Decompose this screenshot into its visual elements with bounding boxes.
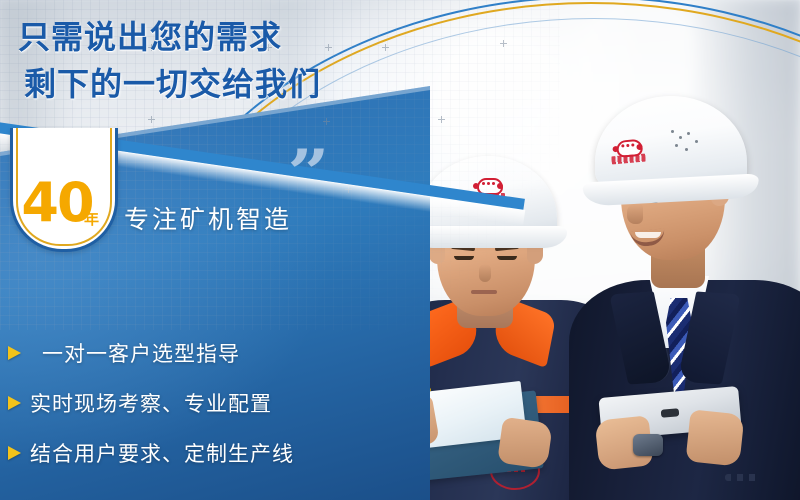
arrow-right-icon [8,446,21,460]
grid-plus-marker [148,116,155,123]
arrow-right-icon [8,346,21,360]
headline-line-1: 只需说出您的需求 [18,19,282,55]
list-item-label: 结合用户要求、定制生产线 [30,438,294,468]
grid-plus-marker [438,116,445,123]
quotation-mark-icon: ” [287,142,329,206]
anniversary-badge: 40 年 [10,128,118,252]
list-item-label: 实时现场考察、专业配置 [30,388,272,418]
badge-unit: 年 [84,208,99,229]
slogan-text: 专注矿机智造 [124,205,292,235]
promo-banner: ” 只需说出您的需求 剩下的一切交给我们 40 年 专注矿机智造 一对一客户选型… [0,0,800,500]
grid-plus-marker [500,40,507,47]
list-item: 结合用户要求、定制生产线 [8,428,338,478]
list-item: 一对一客户选型指导 [8,328,338,378]
feature-list: 一对一客户选型指导 实时现场考察、专业配置 结合用户要求、定制生产线 [8,328,338,478]
headline-line-2: 剩下的一切交给我们 [18,61,321,108]
list-item-label: 一对一客户选型指导 [30,338,240,368]
grid-plus-marker [325,44,332,51]
arrow-right-icon [8,396,21,410]
grid-plus-marker [382,44,389,51]
headline: 只需说出您的需求 剩下的一切交给我们 [18,14,321,108]
grid-plus-marker [323,118,330,125]
list-item: 实时现场考察、专业配置 [8,378,338,428]
